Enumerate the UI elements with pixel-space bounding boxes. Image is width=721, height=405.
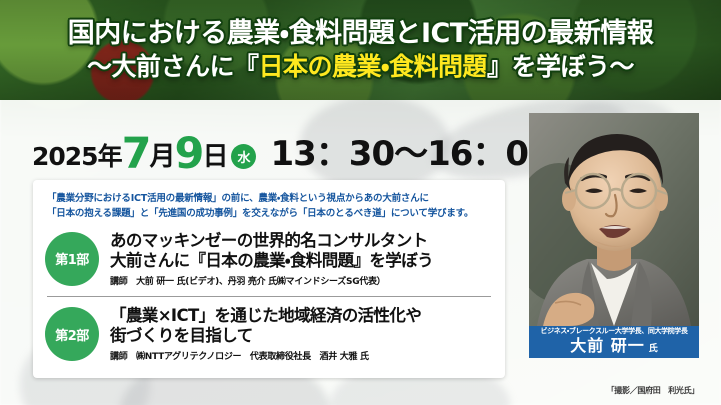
part-1-badge: 第1部 — [45, 232, 99, 286]
card-lead-text: 「農業分野におけるICT活用の最新情報」の前に、農業・食料という視点からあの大前… — [47, 191, 491, 222]
part-divider — [47, 296, 491, 297]
programme-card: 「農業分野におけるICT活用の最新情報」の前に、農業・食料という視点からあの大前… — [33, 180, 505, 378]
card-lead-line-1: 「農業分野におけるICT活用の最新情報」の前に、農業・食料という視点からあの大前… — [47, 191, 491, 206]
subtitle-highlight: 日本の農業・食料問題 — [258, 52, 487, 81]
weekday-badge: 水 — [231, 144, 256, 169]
page-subtitle: ～大前さんに『日本の農業・食料問題』を学ぼう～ — [87, 54, 634, 81]
card-lead-line-2: 「日本の抱える課題」と「先進国の成功事例」を交えながら「日本のとるべき道」につい… — [47, 206, 491, 221]
part-1-title-line-2: 大前さんに『日本の農業・食料問題』を学ぼう — [110, 251, 433, 271]
part-2-title-line-2: 街づくりを目指して — [110, 326, 421, 346]
event-date-time: 2025年 7 月 9 日 水 13：30～16：00 — [32, 126, 551, 172]
date-year: 2025年 — [32, 137, 122, 173]
speaker-photo-block: ビジネス・ブレークスルー大学学長、同大学院学長 大前 研一氏 — [529, 113, 699, 358]
part-2-title-line-1: 「農業×ICT」を通じた地域経済の活性化や — [110, 306, 421, 326]
page-title: 国内における農業・食料問題とICT活用の最新情報 — [68, 20, 653, 49]
speaker-name: 大前 研一 — [570, 337, 645, 355]
date-month-number: 7 — [122, 133, 150, 176]
speaker-portrait — [529, 113, 699, 326]
date-day-unit: 日 — [202, 136, 227, 173]
speaker-role: ビジネス・ブレークスルー大学学長、同大学院学長 — [529, 327, 699, 336]
subtitle-prefix: ～大前さんに『 — [87, 52, 259, 81]
part-1-title-line-1: あのマッキンゼーの世界的名コンサルタント — [110, 231, 433, 251]
programme-part-2: 第2部 「農業×ICT」を通じた地域経済の活性化や 街づくりを目指して 講師 ㈱… — [45, 305, 493, 362]
speaker-name-suffix: 氏 — [649, 344, 658, 354]
event-time: 13：30～16：00 — [270, 126, 550, 175]
programme-part-1: 第1部 あのマッキンゼーの世界的名コンサルタント 大前さんに『日本の農業・食料問… — [45, 230, 493, 287]
header-banner: 国内における農業・食料問題とICT活用の最新情報 ～大前さんに『日本の農業・食料… — [0, 0, 721, 100]
subtitle-suffix: 』を学ぼう～ — [487, 52, 634, 81]
part-2-badge: 第2部 — [45, 307, 99, 361]
date-day-number: 9 — [175, 133, 203, 176]
part-2-speaker: 講師 ㈱NTTアグリテクノロジー 代表取締役社長 酒井 大雅 氏 — [110, 349, 421, 362]
seminar-flyer: 国内における農業・食料問題とICT活用の最新情報 ～大前さんに『日本の農業・食料… — [0, 0, 721, 405]
speaker-name-plate: ビジネス・ブレークスルー大学学長、同大学院学長 大前 研一氏 — [529, 326, 699, 358]
part-1-speaker: 講師 大前 研一 氏(ビデオ)、丹羽 亮介 氏㈱マインドシーズSG代表） — [110, 274, 433, 287]
photo-credit: 「撮影／国府田 利光氏」 — [529, 385, 699, 396]
date-month-unit: 月 — [150, 136, 175, 173]
